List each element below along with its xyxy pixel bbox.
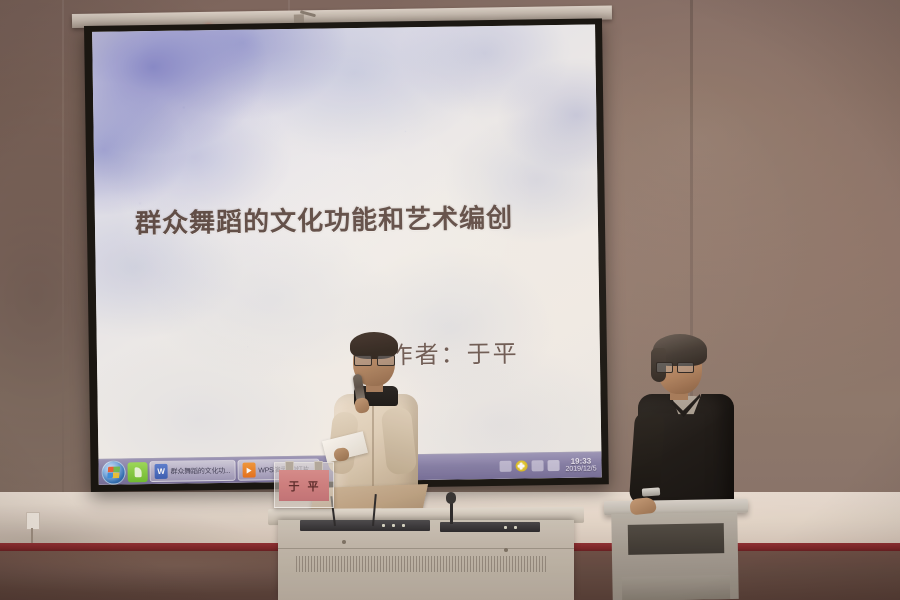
listener-wristwatch — [642, 487, 661, 496]
action-center-shield-icon[interactable] — [515, 460, 527, 471]
listener-glasses-icon — [656, 362, 694, 371]
console-vent-slots — [296, 556, 546, 572]
rack-led — [504, 526, 507, 529]
windows-start-orb-icon[interactable] — [101, 460, 125, 484]
listener-hand-on-podium — [629, 497, 657, 516]
battery-icon[interactable] — [499, 461, 511, 472]
rack-equipment-lower — [440, 522, 540, 532]
rack-equipment-upper — [300, 520, 430, 531]
nameplate-holder: 于 平 — [274, 462, 334, 508]
volume-icon[interactable] — [547, 460, 559, 471]
person-at-podium — [634, 338, 738, 520]
speaker-glasses-icon — [354, 355, 395, 364]
taskbar-clock[interactable]: 19:33 2019/12/5 — [563, 457, 598, 473]
lecture-hall-photo: 群众舞蹈的文化功能和艺术编创 作者：于平 W 群众舞蹈的文化功... WPS演示… — [0, 0, 900, 600]
gooseneck-mic-head — [446, 492, 456, 504]
console-panel-seam — [278, 548, 574, 549]
nameplate-card: 于 平 — [279, 470, 329, 501]
slide-title: 群众舞蹈的文化功能和艺术编创 — [135, 197, 568, 240]
console-screw — [342, 540, 346, 544]
rack-led — [392, 524, 395, 527]
clock-date: 2019/12/5 — [565, 465, 596, 473]
system-tray[interactable] — [499, 460, 561, 472]
lectern-shelf-recess — [628, 523, 725, 555]
wall-outlet — [26, 512, 40, 530]
taskbar-item-label: 群众舞蹈的文化功... — [171, 465, 231, 476]
taskbar-item-wps-writer[interactable]: W 群众舞蹈的文化功... — [149, 460, 235, 482]
network-icon[interactable] — [531, 460, 543, 471]
wps-presentation-icon — [242, 463, 255, 478]
wall-seam — [62, 0, 64, 492]
rack-led — [514, 526, 517, 529]
nameplate-surname: 于 — [289, 478, 301, 494]
wps-writer-icon: W — [155, 464, 168, 479]
clock-time: 19:33 — [571, 457, 592, 466]
nameplate-givenname: 平 — [308, 478, 320, 494]
green-app-icon[interactable] — [127, 462, 147, 482]
rack-led — [402, 524, 405, 527]
rack-led — [382, 524, 385, 527]
lectern-base — [622, 575, 730, 600]
console-screw — [504, 548, 508, 552]
